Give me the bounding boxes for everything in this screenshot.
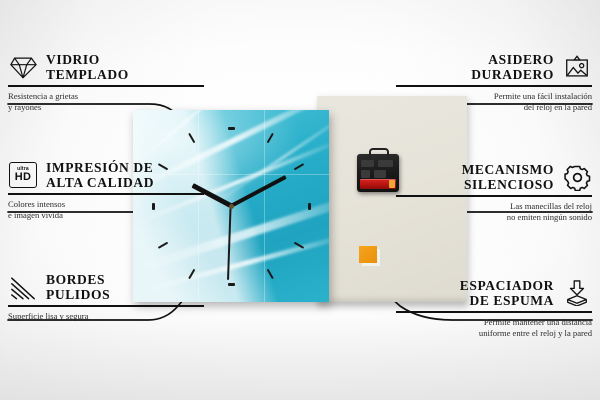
divider [396, 195, 592, 197]
gear-icon [562, 162, 592, 192]
divider [8, 193, 204, 195]
feature-title-line1: BORDES [46, 272, 105, 287]
feature-title-line1: MECANISMO [462, 162, 554, 177]
divider [396, 311, 592, 313]
feature-title: ESPACIADOR DE ESPUMA [460, 278, 554, 308]
divider [396, 85, 592, 87]
feature-description: Las manecillas del reloj no emiten ningú… [396, 201, 592, 222]
feature-title-line1: VIDRIO [46, 52, 100, 67]
feature-title: BORDES PULIDOS [46, 272, 110, 302]
feature-description: Permite mantener una distancia uniforme … [396, 317, 592, 338]
feature-description: Superficie lisa y segura [8, 311, 204, 322]
infographic-canvas: VIDRIO TEMPLADO Resistencia a grietas y … [0, 0, 600, 400]
feature-tempered-glass[interactable]: VIDRIO TEMPLADO Resistencia a grietas y … [8, 52, 204, 112]
battery [360, 179, 396, 189]
movement-detail [361, 160, 374, 167]
clock-center-cap [229, 204, 234, 209]
feature-title-line1: IMPRESIÓN DE [46, 160, 153, 175]
arrow-onto-pad-icon [562, 278, 592, 308]
movement-detail [374, 170, 386, 178]
movement-detail [378, 160, 393, 167]
diagonal-lines-icon [8, 272, 38, 302]
clock-minute-hand [230, 175, 287, 208]
ultra-hd-icon: ultra HD [8, 160, 38, 190]
battery-terminal [389, 180, 395, 188]
feature-hd-print[interactable]: ultra HD IMPRESIÓN DE ALTA CALIDAD Color… [8, 160, 204, 220]
feature-silent-mechanism[interactable]: MECANISMO SILENCIOSO Las manecillas del … [396, 162, 592, 222]
feature-durable-hanger[interactable]: ASIDERO DURADERO Permite una fácil insta… [396, 52, 592, 112]
ultra-hd-large-label: HD [15, 172, 32, 183]
divider [8, 85, 204, 87]
feature-title-line2: TEMPLADO [46, 67, 129, 82]
feature-description: Resistencia a grietas y rayones [8, 91, 204, 112]
hanging-frame-icon [562, 52, 592, 82]
feature-title-line2: DE ESPUMA [460, 293, 554, 308]
feature-title: ASIDERO DURADERO [471, 52, 554, 82]
movement-detail [361, 170, 370, 178]
feature-title-line1: ESPACIADOR [460, 278, 554, 293]
feature-title-line2: PULIDOS [46, 287, 110, 302]
feature-title: VIDRIO TEMPLADO [46, 52, 129, 82]
divider [8, 305, 204, 307]
feature-foam-spacer[interactable]: ESPACIADOR DE ESPUMA Permite mantener un… [396, 278, 592, 338]
feature-title: MECANISMO SILENCIOSO [462, 162, 554, 192]
feature-title: IMPRESIÓN DE ALTA CALIDAD [46, 160, 154, 190]
diamond-icon [8, 52, 38, 82]
feature-description: Permite una fácil instalación del reloj … [396, 91, 592, 112]
hanger-loop-icon [369, 148, 389, 158]
clock-second-hand [228, 206, 232, 280]
foam-spacer-pad [359, 246, 377, 263]
feature-polished-edges[interactable]: BORDES PULIDOS Superficie lisa y segura [8, 272, 204, 322]
feature-title-line1: ASIDERO [488, 52, 554, 67]
feature-description: Colores intensos e imagen vívida [8, 199, 204, 220]
feature-title-line2: SILENCIOSO [462, 177, 554, 192]
feature-title-line2: DURADERO [471, 67, 554, 82]
clock-movement [357, 154, 399, 192]
feature-title-line2: ALTA CALIDAD [46, 175, 154, 190]
